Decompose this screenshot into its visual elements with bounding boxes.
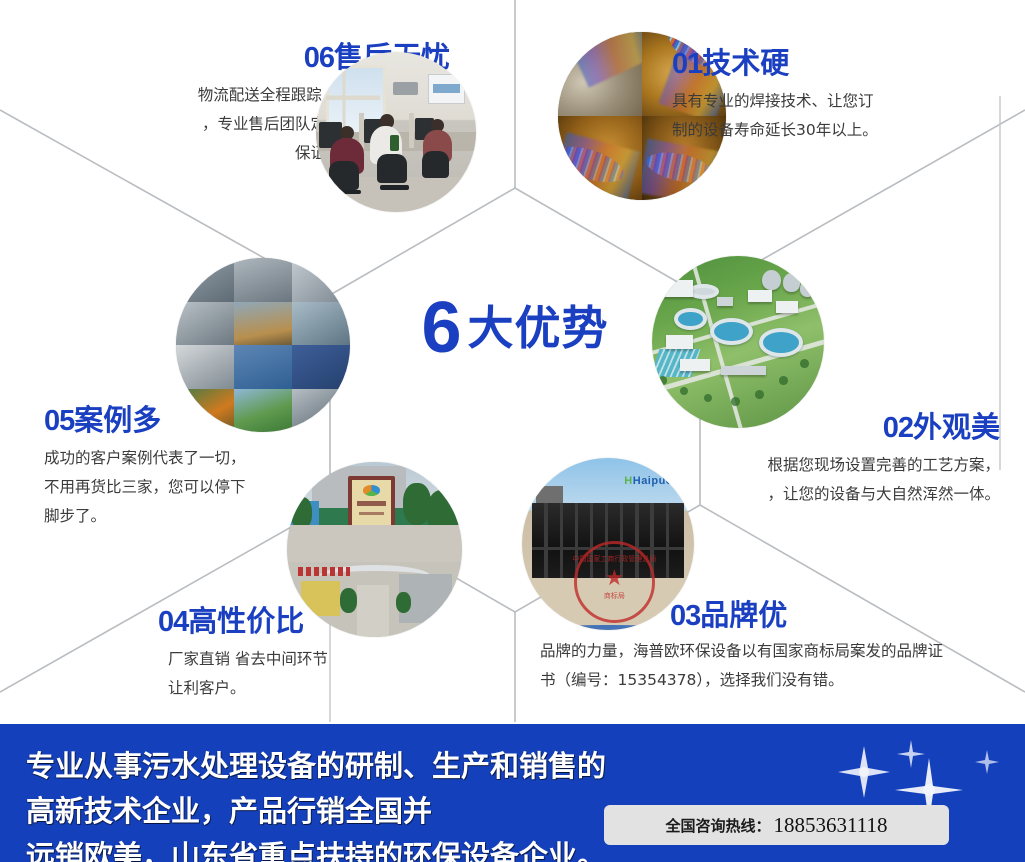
banner-line-1: 专业从事污水处理设备的研制、生产和销售的高新技术企业，产品行销全国并 [26,749,606,828]
brand-watermark: HHaipuou [624,475,680,487]
feature-01-body: 具有专业的焊接技术、让您订 制的设备寿命延长30年以上。 [672,87,1002,144]
feature-03-index: 03 [670,600,700,632]
banner-line-2: 远销欧美，山东省重点扶持的环保设备企业。 [26,834,606,862]
feature-03-line-2: 书（编号：15354378），选择我们没有错。 [540,666,1010,695]
feature-05-index: 05 [44,405,74,437]
hotline-box[interactable]: 全国咨询热线： 18853631118 [604,805,949,845]
infographic-root: 6 大优势 06售后无忧 物流配送全程跟踪，24小时快速响应 ，专业售后团队定期… [0,0,1025,862]
center-label: 大优势 [468,305,609,351]
feature-01-tech[interactable]: 01技术硬 具有专业的焊接技术、让您订 制的设备寿命延长30年以上。 [672,48,1002,145]
feature-01-line-2: 制的设备寿命延长30年以上。 [672,116,1002,145]
feature-03-brand[interactable]: 03品牌优 品牌的力量，海普欧环保设备以有国家商标局案发的品牌证 书（编号：15… [540,600,1010,695]
banner-text: 专业从事污水处理设备的研制、生产和销售的高新技术企业，产品行销全国并 远销欧美，… [26,744,606,862]
feature-03-body: 品牌的力量，海普欧环保设备以有国家商标局案发的品牌证 书（编号：15354378… [540,637,1010,694]
hotline-number: 18853631118 [774,813,888,838]
feature-04-body: 厂家直销 省去中间环节 让利客户。 [168,645,488,702]
feature-04-heading: 04高性价比 [158,606,488,637]
feature-03-heading: 03品牌优 [670,600,1010,631]
center-title: 6 大优势 [390,288,640,368]
stamp-top-text: 中国国家工商行政管理总局 [572,554,656,564]
stamp-star-icon: ★ [605,567,625,589]
feature-05-heading: 05案例多 [44,405,374,436]
hotline-label: 全国咨询热线： [666,815,771,836]
feature-04-line-1: 厂家直销 省去中间环节 [168,645,488,674]
feature-04-line-2: 让利客户。 [168,674,488,703]
feature-02-heading: 02外观美 [600,412,1000,443]
wastewater-plant-aerial-photo [652,256,824,428]
feature-02-index: 02 [883,412,913,444]
feature-01-line-1: 具有专业的焊接技术、让您订 [672,87,1002,116]
feature-01-index: 01 [672,48,702,80]
office-team-photo [316,52,476,212]
feature-03-line-1: 品牌的力量，海普欧环保设备以有国家商标局案发的品牌证 [540,637,1010,666]
feature-02-title: 外观美 [913,410,1000,444]
feature-05-title: 案例多 [74,403,161,437]
brand-watermark-text: Haipuou [633,475,681,487]
feature-01-title: 技术硬 [702,46,789,80]
feature-03-title: 品牌优 [700,598,787,632]
center-number: 6 [421,292,459,364]
feature-01-heading: 01技术硬 [672,48,1002,79]
feature-04-value[interactable]: 04高性价比 厂家直销 省去中间环节 让利客户。 [158,606,488,703]
feature-04-title: 高性价比 [188,604,304,638]
feature-04-index: 04 [158,606,188,638]
